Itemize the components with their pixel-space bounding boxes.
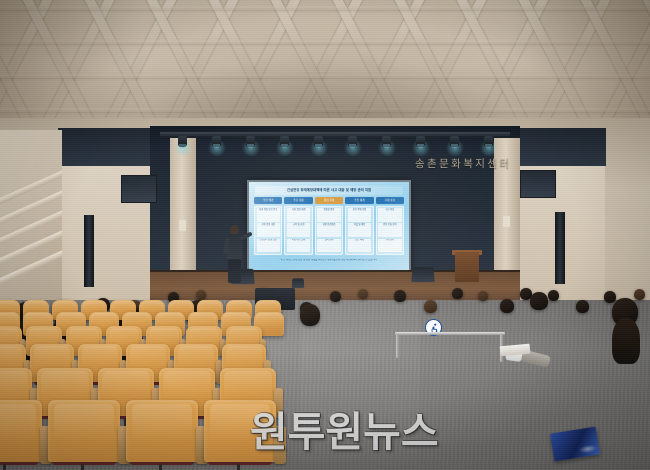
venue-name-sign: 송촌문화복지센터 [415,156,511,171]
auditorium-seat[interactable] [0,400,42,462]
slide-content-box: 사전 점검 체계 [287,208,310,222]
slide-content-box: 관리 주체 지정 [348,208,371,222]
projection-screen: 건설현장 화재예방대책에 따른 사고 대응 및 예방 관리 지침 추진 배경화재… [249,182,409,270]
slide-columns: 추진 배경화재 위험 요인 증가관계 법령 개정안전관리 강화 필요주요 내용사… [254,197,404,255]
presenter-legs [228,259,241,283]
slide-column-1: 추진 배경화재 위험 요인 증가관계 법령 개정안전관리 강화 필요 [254,197,282,255]
stage-light [178,136,187,147]
stage-monitor-center [292,278,304,288]
slide-content-box: 관계 법령 개정 [257,223,280,237]
stage-light [348,136,357,147]
seat-leg [237,464,240,470]
slide-column-header: 추진 배경 [254,197,282,204]
slide-title-bar: 건설현장 화재예방대책에 따른 사고 대응 및 예방 관리 지침 [255,186,403,195]
auditorium-photo: 송촌문화복지센터 건설현장 화재예방대책에 따른 사고 대응 및 예방 관리 지… [0,0,650,470]
slide-column-body: 위험성 평가현장 안전점검설비 정비 [315,206,343,256]
audience-head [300,304,320,326]
slide-column-header: 주요 내용 [284,197,312,204]
aisle-handrail [395,332,513,358]
slide-content-box: 보고 체계 [348,239,371,253]
slide-footer-note: ※ 본 자료는 관계 법령 및 관련 지침을 바탕으로 작성되었으며, 현장 여… [257,259,401,262]
slide-content-box: 역할 및 책임 [348,223,371,237]
slide-column-5: 기대 효과사고 저감안전 문화 정착지속 관리 [376,197,404,255]
audience-head [196,290,206,300]
slide-title-text: 건설현장 화재예방대책에 따른 사고 대응 및 예방 관리 지침 [255,186,403,195]
audience-head [394,290,406,302]
stage-light [314,136,323,147]
podium [455,252,479,282]
slide-column-3: 중점 과제위험성 평가현장 안전점검설비 정비 [315,197,343,255]
watermark: 원투원뉴스 [250,398,439,458]
wall-speaker-left [121,175,157,203]
slide-column-body: 화재 위험 요인 증가관계 법령 개정안전관리 강화 필요 [254,206,282,256]
auditorium-seat[interactable] [48,400,120,462]
seat-leg [159,464,162,470]
audience-hair [612,318,640,364]
wall-light-right [503,216,510,227]
slide-content-box: 지속 관리 [378,239,401,253]
seat-leg [3,464,6,470]
slide-content-box: 교육 및 훈련 [287,223,310,237]
stage-light [416,136,425,147]
slide-content-box: 설비 정비 [317,239,340,253]
stairwell-left [0,130,62,305]
audience-head [424,300,437,313]
slide-content-box: 안전 문화 정착 [378,223,401,237]
audience-head [548,290,559,301]
handrail-post-left [396,334,399,358]
auditorium-seat[interactable] [126,400,198,462]
stage-light [246,136,255,147]
audience-head [330,291,341,302]
stage-light [484,136,493,147]
slide-column-2: 주요 내용사전 점검 체계교육 및 훈련비상 대응 절차 [284,197,312,255]
audience-head [452,288,463,299]
stage-light [212,136,221,147]
slide-column-header: 기대 효과 [376,197,404,204]
slide-column-body: 사고 저감안전 문화 정착지속 관리 [376,206,404,256]
audience-head [634,289,645,300]
stage-light [450,136,459,147]
slide-column-body: 사전 점검 체계교육 및 훈련비상 대응 절차 [284,206,312,256]
wall-speaker-right [520,170,556,198]
audience-head [500,299,514,313]
stage-light [382,136,391,147]
audience-head [576,300,589,313]
audience-head [530,292,548,310]
wall-light-left [179,220,186,231]
audience-head [478,291,488,301]
slide-content-box: 안전관리 강화 필요 [257,239,280,253]
presenter [220,225,250,283]
slide-column-header: 중점 과제 [315,197,343,204]
audience-head [358,289,368,299]
slide-content-box: 화재 위험 요인 증가 [257,208,280,222]
audience-head [604,291,616,303]
column-speaker-right [555,212,565,284]
stage-light [280,136,289,147]
handrail-bar [395,332,505,335]
slide-content-box: 현장 안전점검 [317,223,340,237]
slide-content-box: 비상 대응 절차 [287,239,310,253]
stage-monitor-right [411,267,434,282]
slide-column-4: 추진 체계관리 주체 지정역할 및 책임보고 체계 [345,197,373,255]
slide-content-box: 사고 저감 [378,208,401,222]
stage-header-band [150,126,520,156]
column-speaker-left [84,215,94,287]
slide-content-box: 위험성 평가 [317,208,340,222]
slide-column-header: 추진 체계 [345,197,373,204]
seat-leg [81,464,84,470]
presentation-slide: 건설현장 화재예방대책에 따른 사고 대응 및 예방 관리 지침 추진 배경화재… [249,182,409,270]
slide-column-body: 관리 주체 지정역할 및 책임보고 체계 [345,206,373,256]
